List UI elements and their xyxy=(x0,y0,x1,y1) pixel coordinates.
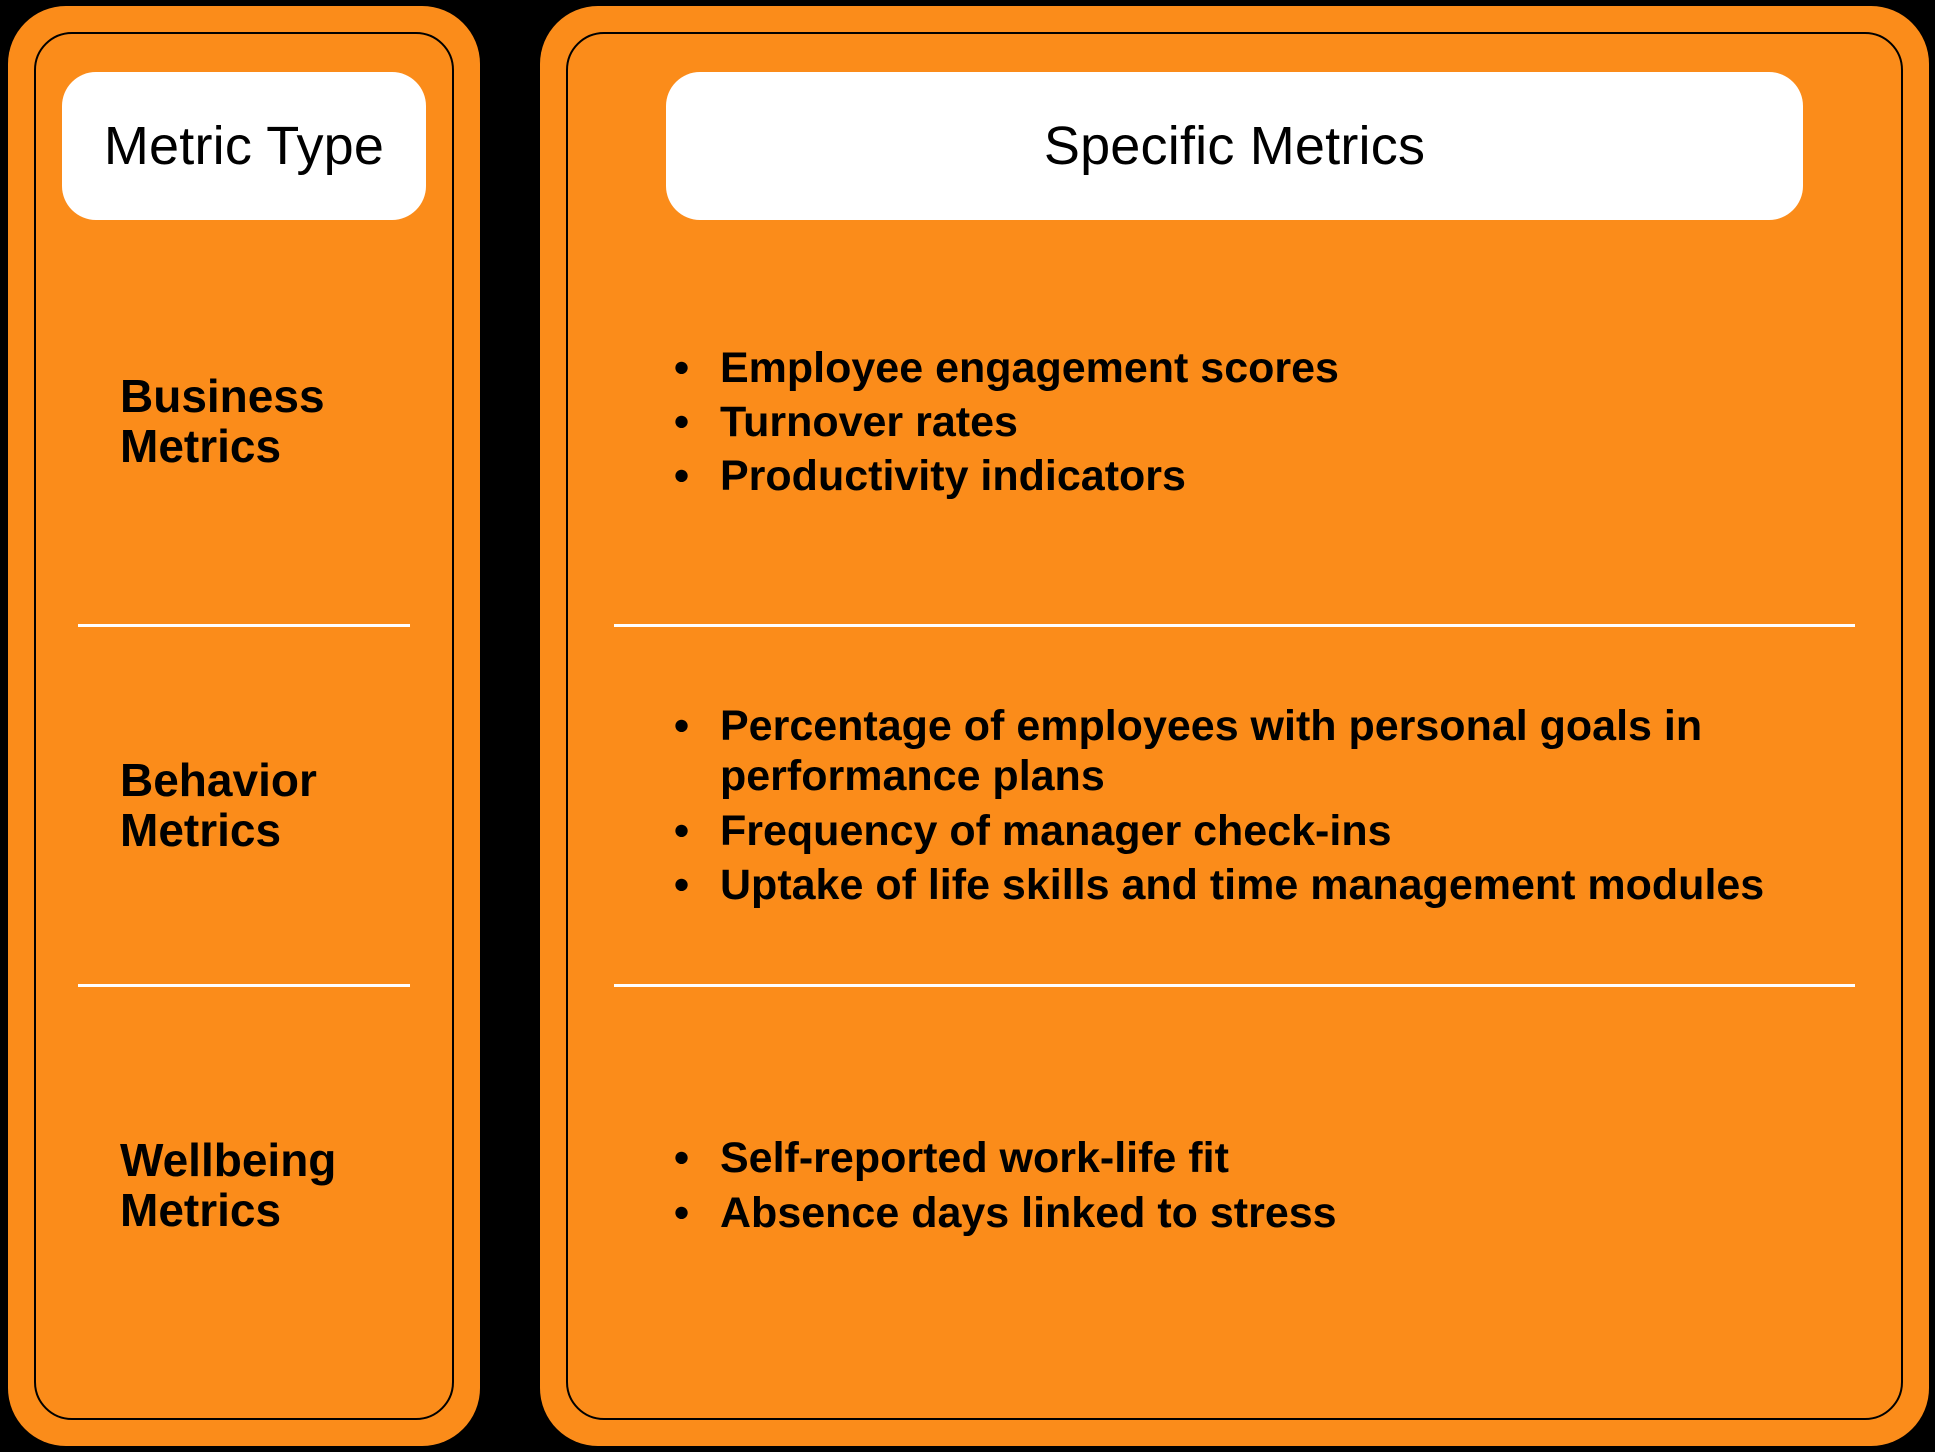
specific-metrics-panel: Specific Metrics Employee engagement sco… xyxy=(540,6,1929,1446)
metric-type-header-pill: Metric Type xyxy=(62,72,426,220)
metric-type-panel-inner-border: Metric Type Business Metrics Behavior Me… xyxy=(34,32,454,1420)
table-row: Self-reported work-life fit Absence days… xyxy=(614,984,1855,1384)
table-row: Business Metrics xyxy=(78,220,410,624)
wellbeing-metrics-bullet-list: Self-reported work-life fit Absence days… xyxy=(614,1133,1855,1238)
list-item: Percentage of employees with personal go… xyxy=(674,701,1855,802)
list-item: Employee engagement scores xyxy=(674,343,1855,393)
list-item: Uptake of life skills and time managemen… xyxy=(674,860,1855,910)
behavior-metrics-bullet-list: Percentage of employees with personal go… xyxy=(614,701,1855,910)
specific-metrics-header-label: Specific Metrics xyxy=(1044,119,1425,173)
metric-type-label-behavior: Behavior Metrics xyxy=(78,756,410,855)
table-row: Employee engagement scores Turnover rate… xyxy=(614,220,1855,624)
metric-type-label-business: Business Metrics xyxy=(78,372,410,471)
metric-type-rows: Business Metrics Behavior Metrics Wellbe… xyxy=(36,220,452,1418)
specific-metrics-panel-inner-border: Specific Metrics Employee engagement sco… xyxy=(566,32,1903,1420)
specific-metrics-header-pill: Specific Metrics xyxy=(666,72,1803,220)
metrics-table: Metric Type Business Metrics Behavior Me… xyxy=(0,0,1935,1452)
specific-metrics-rows: Employee engagement scores Turnover rate… xyxy=(568,220,1901,1418)
list-item: Frequency of manager check-ins xyxy=(674,806,1855,856)
metric-type-label-wellbeing: Wellbeing Metrics xyxy=(78,1136,410,1235)
list-item: Turnover rates xyxy=(674,397,1855,447)
list-item: Absence days linked to stress xyxy=(674,1188,1855,1238)
table-row: Wellbeing Metrics xyxy=(78,984,410,1384)
list-item: Self-reported work-life fit xyxy=(674,1133,1855,1183)
metric-type-panel: Metric Type Business Metrics Behavior Me… xyxy=(8,6,480,1446)
table-row: Behavior Metrics xyxy=(78,624,410,984)
list-item: Productivity indicators xyxy=(674,451,1855,501)
table-row: Percentage of employees with personal go… xyxy=(614,624,1855,984)
metric-type-header-label: Metric Type xyxy=(104,119,384,173)
business-metrics-bullet-list: Employee engagement scores Turnover rate… xyxy=(614,343,1855,502)
